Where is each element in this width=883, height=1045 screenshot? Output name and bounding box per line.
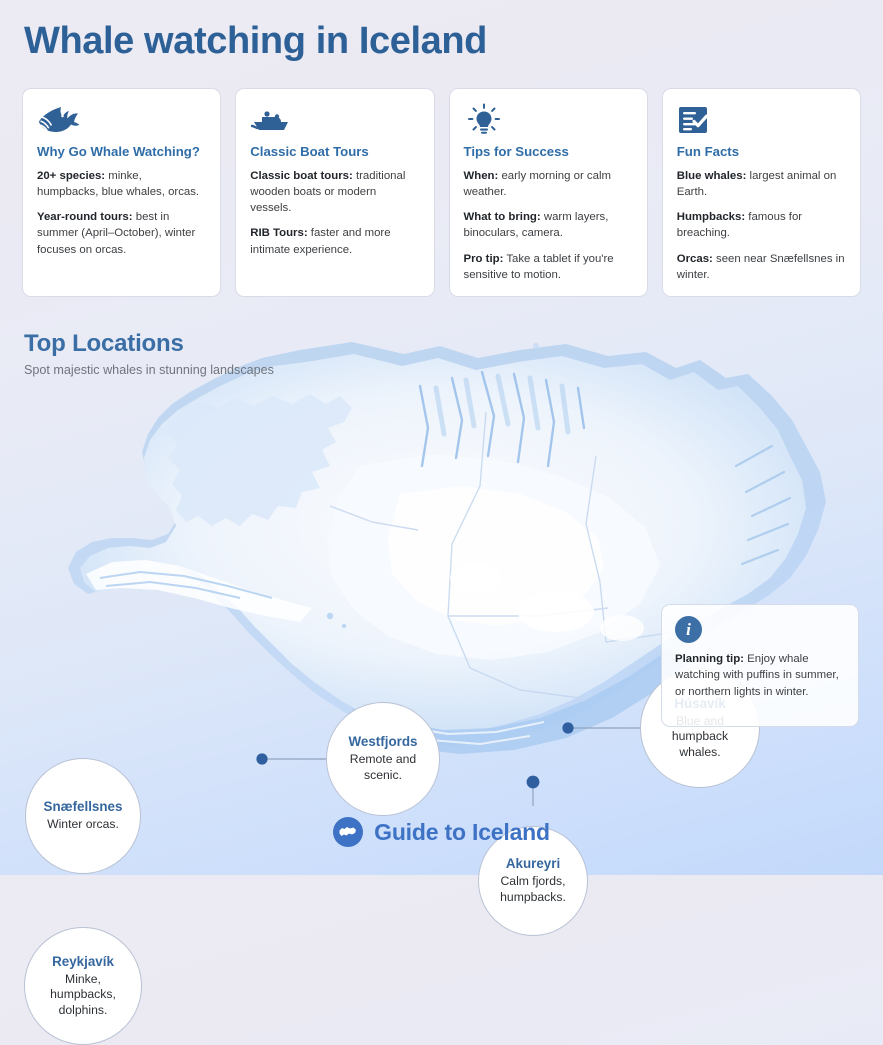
card-paragraph: What to bring: warm layers, binoculars, … xyxy=(464,209,633,241)
info-cards-row: Why Go Whale Watching? 20+ species: mink… xyxy=(22,88,861,297)
lightbulb-icon xyxy=(464,103,633,137)
section-heading: Top Locations Spot majestic whales in st… xyxy=(24,330,274,379)
planning-tip-lead: Planning tip: xyxy=(675,653,744,665)
card-paragraph: When: early morning or calm weather. xyxy=(464,168,633,200)
marker-husavik[interactable] xyxy=(562,722,573,733)
card-paragraph: Classic boat tours: traditional wooden b… xyxy=(250,168,419,217)
info-card-classic-boat-tours[interactable]: Classic Boat Tours Classic boat tours: t… xyxy=(235,88,434,297)
info-icon: i xyxy=(675,616,702,643)
card-title: Why Go Whale Watching? xyxy=(37,144,206,160)
location-description: Remote and scenic. xyxy=(336,752,430,783)
page-title: Whale watching in Iceland xyxy=(24,20,487,63)
card-paragraph: RIB Tours: faster and more intimate expe… xyxy=(250,225,419,257)
card-paragraph-lead: Pro tip: xyxy=(464,253,504,265)
location-name: Snæfellsnes xyxy=(44,799,123,815)
card-paragraph: Blue whales: largest animal on Earth. xyxy=(677,168,846,200)
location-name: Reykjavík xyxy=(52,954,114,970)
card-paragraph-lead: When: xyxy=(464,170,499,182)
planning-tip-text: Planning tip: Enjoy whale watching with … xyxy=(675,651,845,700)
section-subtitle: Spot majestic whales in stunning landsca… xyxy=(24,362,274,379)
footer-logo[interactable]: Guide to Iceland xyxy=(0,817,883,847)
card-paragraph-lead: Blue whales: xyxy=(677,170,747,182)
location-name: Westfjords xyxy=(349,734,418,750)
section-title: Top Locations xyxy=(24,330,274,358)
card-title: Tips for Success xyxy=(464,144,633,160)
card-paragraph-lead: Orcas: xyxy=(677,253,713,265)
card-title: Classic Boat Tours xyxy=(250,144,419,160)
card-paragraph-lead: Year-round tours: xyxy=(37,211,133,223)
boat-icon xyxy=(250,103,419,137)
card-paragraph: Pro tip: Take a tablet if you're sensiti… xyxy=(464,251,633,283)
card-paragraph: Year-round tours: best in summer (April–… xyxy=(37,209,206,258)
info-card-tips-for-success[interactable]: Tips for Success When: early morning or … xyxy=(449,88,648,297)
iceland-logo-icon xyxy=(333,817,363,847)
info-card-why-go-whale-watching[interactable]: Why Go Whale Watching? 20+ species: mink… xyxy=(22,88,221,297)
card-paragraph: 20+ species: minke, humpbacks, blue whal… xyxy=(37,168,206,200)
card-paragraph: Orcas: seen near Snæfellsnes in winter. xyxy=(677,251,846,283)
top-locations-map-section: Top Locations Spot majestic whales in st… xyxy=(0,316,883,806)
location-description: Minke, humpbacks, dolphins. xyxy=(34,972,132,1019)
whale-icon xyxy=(37,103,206,137)
card-title: Fun Facts xyxy=(677,144,846,160)
card-paragraph-lead: 20+ species: xyxy=(37,170,105,182)
location-description: Calm fjords, humpbacks. xyxy=(488,874,578,905)
marker-westfjords[interactable] xyxy=(256,753,267,764)
card-paragraph-lead: Humpbacks: xyxy=(677,211,745,223)
location-bubble-snaefellsnes[interactable]: Snæfellsnes Winter orcas. xyxy=(25,758,141,874)
location-bubble-westfjords[interactable]: Westfjords Remote and scenic. xyxy=(326,702,440,816)
card-paragraph-lead: RIB Tours: xyxy=(250,227,307,239)
footer-logo-text: Guide to Iceland xyxy=(374,819,550,846)
checklist-icon xyxy=(677,103,846,137)
marker-akureyri[interactable] xyxy=(527,776,540,789)
location-bubble-reykjavik[interactable]: Reykjavík Minke, humpbacks, dolphins. xyxy=(24,927,142,1045)
planning-tip-card[interactable]: i Planning tip: Enjoy whale watching wit… xyxy=(661,604,859,727)
info-card-fun-facts[interactable]: Fun Facts Blue whales: largest animal on… xyxy=(662,88,861,297)
location-name: Akureyri xyxy=(506,856,560,872)
card-paragraph: Humpbacks: famous for breaching. xyxy=(677,209,846,241)
card-paragraph-lead: What to bring: xyxy=(464,211,541,223)
card-paragraph-lead: Classic boat tours: xyxy=(250,170,353,182)
